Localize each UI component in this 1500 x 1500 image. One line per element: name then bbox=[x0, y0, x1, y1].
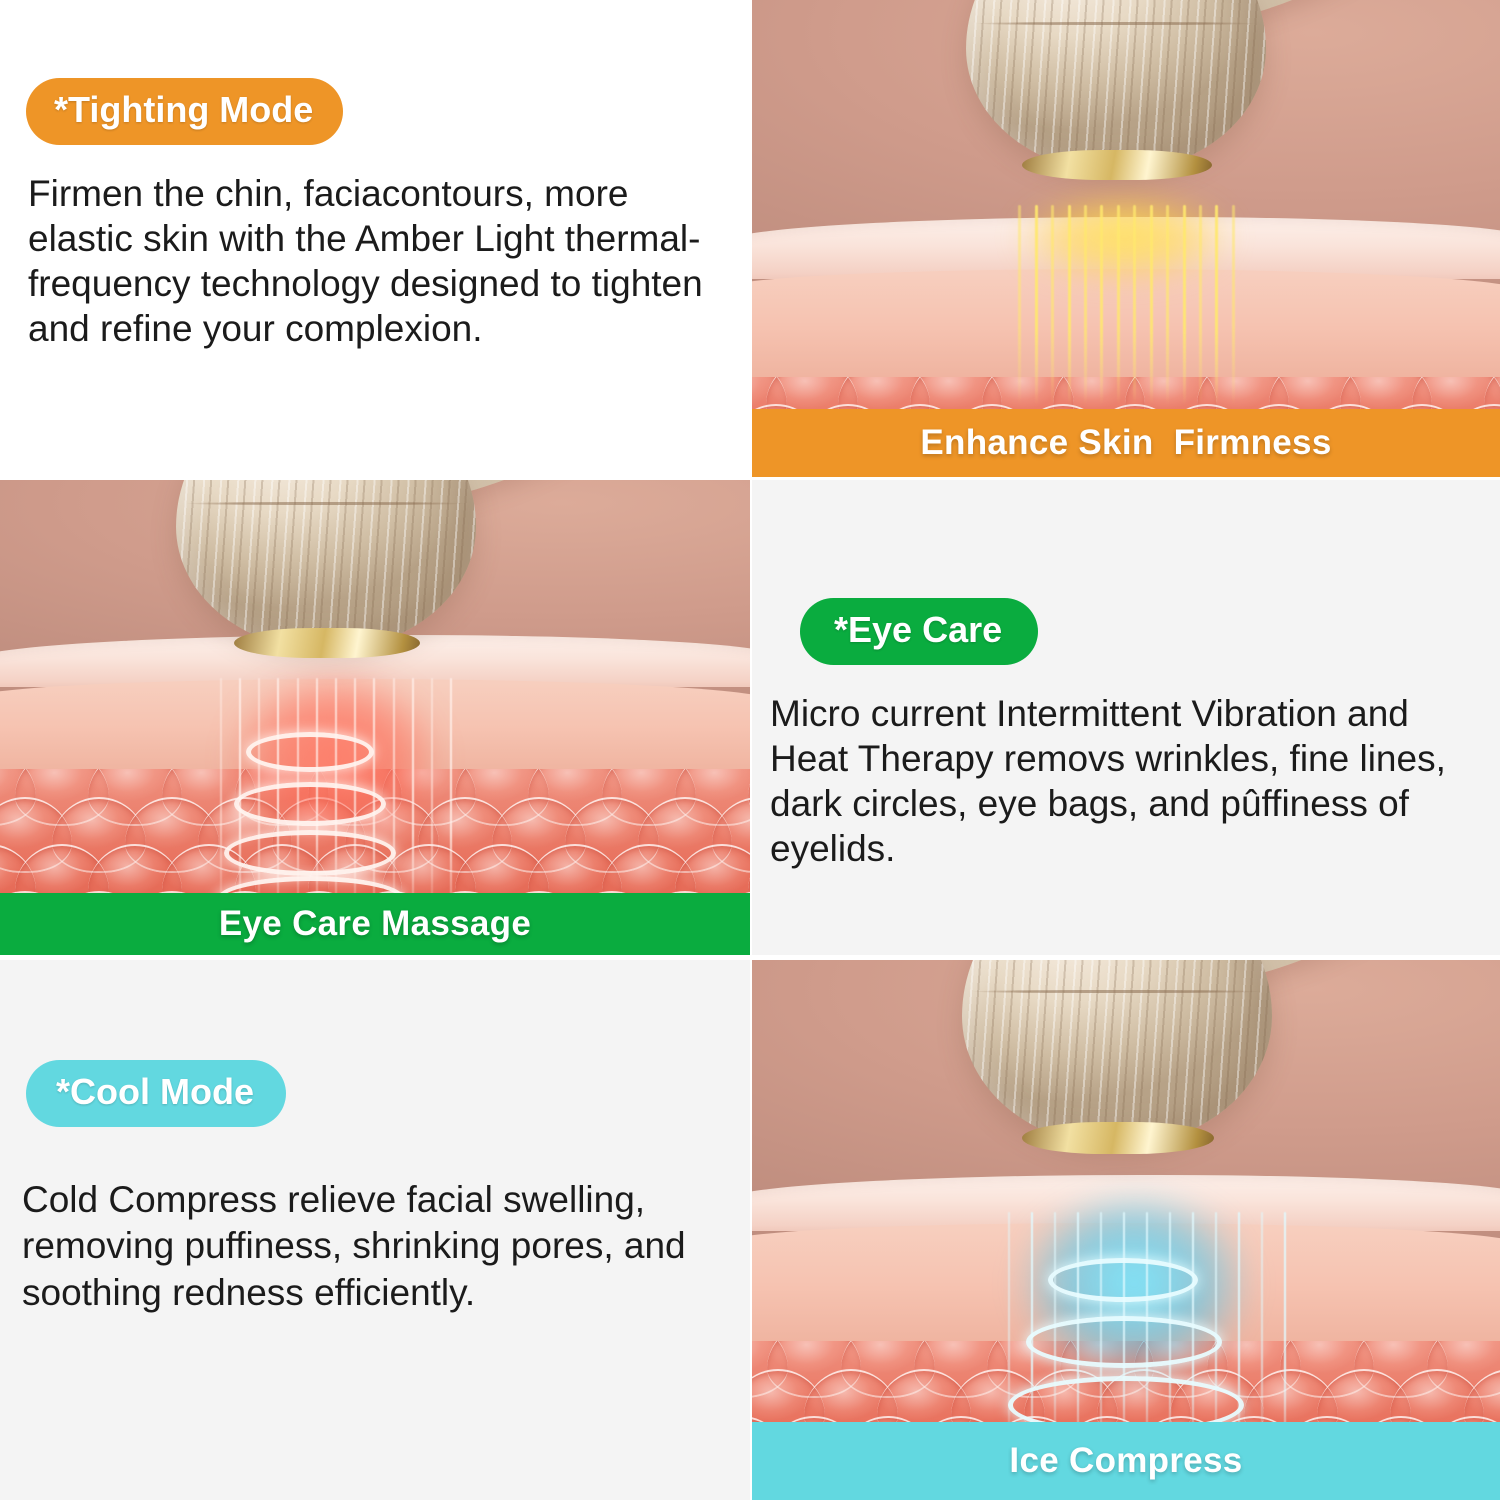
tighting-mode-text-panel: *Tighting Mode Firmen the chin, faciacon… bbox=[0, 0, 750, 477]
eye-care-badge: *Eye Care bbox=[800, 598, 1038, 665]
device-head-ribs bbox=[966, 0, 1266, 172]
facial-massager-device bbox=[932, 960, 1372, 1320]
cool-mode-description: Cold Compress relieve facial swelling, r… bbox=[22, 1177, 722, 1316]
tighting-mode-description: Firmen the chin, faciacontours, more ela… bbox=[28, 171, 722, 352]
ice-compress-image-panel: Ice Compress bbox=[752, 960, 1500, 1500]
red-light-scene: Eye Care Massage bbox=[0, 480, 750, 955]
device-head-seam bbox=[185, 502, 467, 505]
ice-light-scene: Ice Compress bbox=[752, 960, 1500, 1500]
cool-mode-badge: *Cool Mode bbox=[26, 1060, 286, 1127]
device-gold-baseplate bbox=[1022, 1122, 1214, 1154]
device-massage-head bbox=[176, 480, 476, 650]
eyecare-caption-text: Eye Care Massage bbox=[219, 904, 531, 944]
device-head-seam bbox=[971, 990, 1262, 993]
eye-care-description: Micro current Intermittent Vibration and… bbox=[770, 691, 1470, 872]
device-gold-baseplate bbox=[1022, 150, 1212, 180]
facial-massager-device bbox=[150, 480, 580, 830]
tighting-mode-badge: *Tighting Mode bbox=[26, 78, 343, 145]
device-massage-head bbox=[966, 0, 1266, 172]
eye-care-massage-image-panel: Eye Care Massage bbox=[0, 480, 750, 955]
firmness-caption-bar: Enhance Skin Firmness bbox=[752, 409, 1500, 477]
firmness-caption-text: Enhance Skin Firmness bbox=[920, 423, 1331, 463]
device-head-seam bbox=[975, 22, 1257, 25]
enhance-skin-firmness-image-panel: Enhance Skin Firmness bbox=[752, 0, 1500, 477]
ice-caption-text: Ice Compress bbox=[1009, 1441, 1242, 1481]
ice-caption-bar: Ice Compress bbox=[752, 1422, 1500, 1500]
amber-light-scene: Enhance Skin Firmness bbox=[752, 0, 1500, 477]
facial-massager-device bbox=[952, 0, 1372, 360]
device-massage-head bbox=[962, 960, 1272, 1146]
device-gold-baseplate bbox=[234, 628, 420, 658]
device-head-ribs bbox=[176, 480, 476, 650]
product-feature-infographic: *Tighting Mode Firmen the chin, faciacon… bbox=[0, 0, 1500, 1500]
eye-care-text-panel: *Eye Care Micro current Intermittent Vib… bbox=[752, 480, 1500, 955]
device-head-ribs bbox=[962, 960, 1272, 1146]
cool-mode-text-panel: *Cool Mode Cold Compress relieve facial … bbox=[0, 960, 750, 1500]
eyecare-caption-bar: Eye Care Massage bbox=[0, 893, 750, 955]
